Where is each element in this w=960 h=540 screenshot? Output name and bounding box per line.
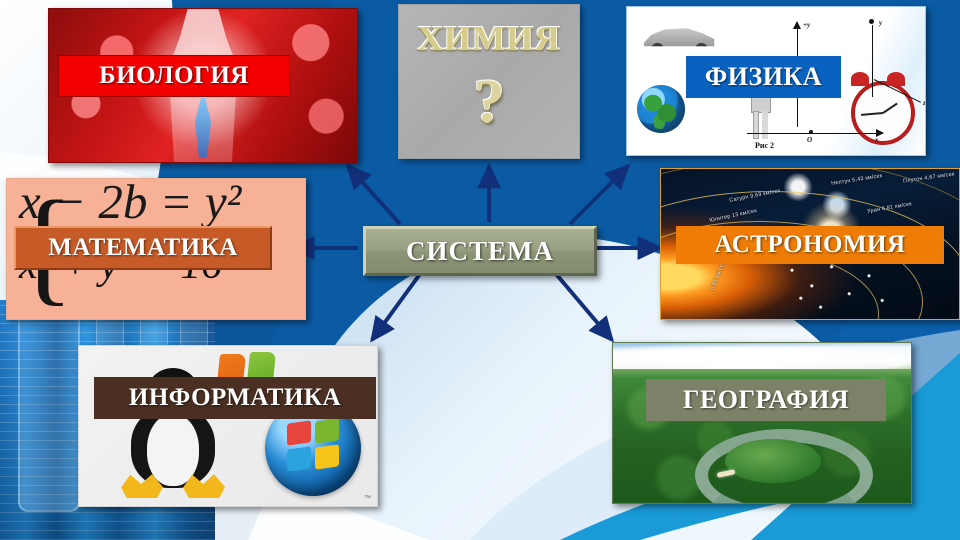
node-label-biology[interactable]: БИОЛОГИЯ [58, 55, 290, 97]
node-label-informatics[interactable]: ИНФОРМАТИКА [94, 377, 376, 419]
node-card-geography[interactable] [612, 342, 912, 504]
physics-y2-axis [872, 25, 873, 97]
axis-tick-y: y [879, 19, 882, 27]
math-equation-1: x − 2b = y² [19, 178, 297, 230]
axis-tick-z: z [923, 99, 926, 107]
physics-figure-caption: Рис 2 [755, 141, 774, 150]
node-label-geography[interactable]: ГЕОГРАФИЯ [646, 379, 886, 421]
geography-island [725, 439, 821, 483]
center-node-label: СИСТЕМА [406, 236, 554, 267]
node-label-mathematics[interactable]: МАТЕМАТИКА [14, 226, 272, 270]
car-icon [641, 21, 715, 51]
node-label-astronomy[interactable]: АСТРОНОМИЯ [676, 226, 944, 264]
axis-tick-origin: O [807, 136, 812, 144]
slide-canvas: БИОЛОГИЯ ХИМИЯ ? +y y z O x Рис 2 ФИЗИКА… [0, 0, 960, 540]
node-label-physics[interactable]: ФИЗИКА [686, 56, 841, 98]
starfield [781, 259, 891, 315]
node-card-chemistry[interactable]: ХИМИЯ ? [398, 4, 580, 159]
center-node-system[interactable]: СИСТЕМА [363, 226, 597, 276]
axis-tick-plus-y: +y [803, 21, 810, 29]
globe-icon [637, 85, 685, 133]
node-label-chemistry: ХИМИЯ [399, 19, 579, 59]
node-card-informatics[interactable]: ™ [78, 345, 378, 507]
physics-x-axis [747, 133, 883, 134]
chemistry-question-mark: ? [399, 67, 579, 138]
trademark-symbol: ™ [364, 495, 371, 502]
axis-tick-x: x [875, 136, 879, 144]
geography-clouds [613, 343, 912, 369]
